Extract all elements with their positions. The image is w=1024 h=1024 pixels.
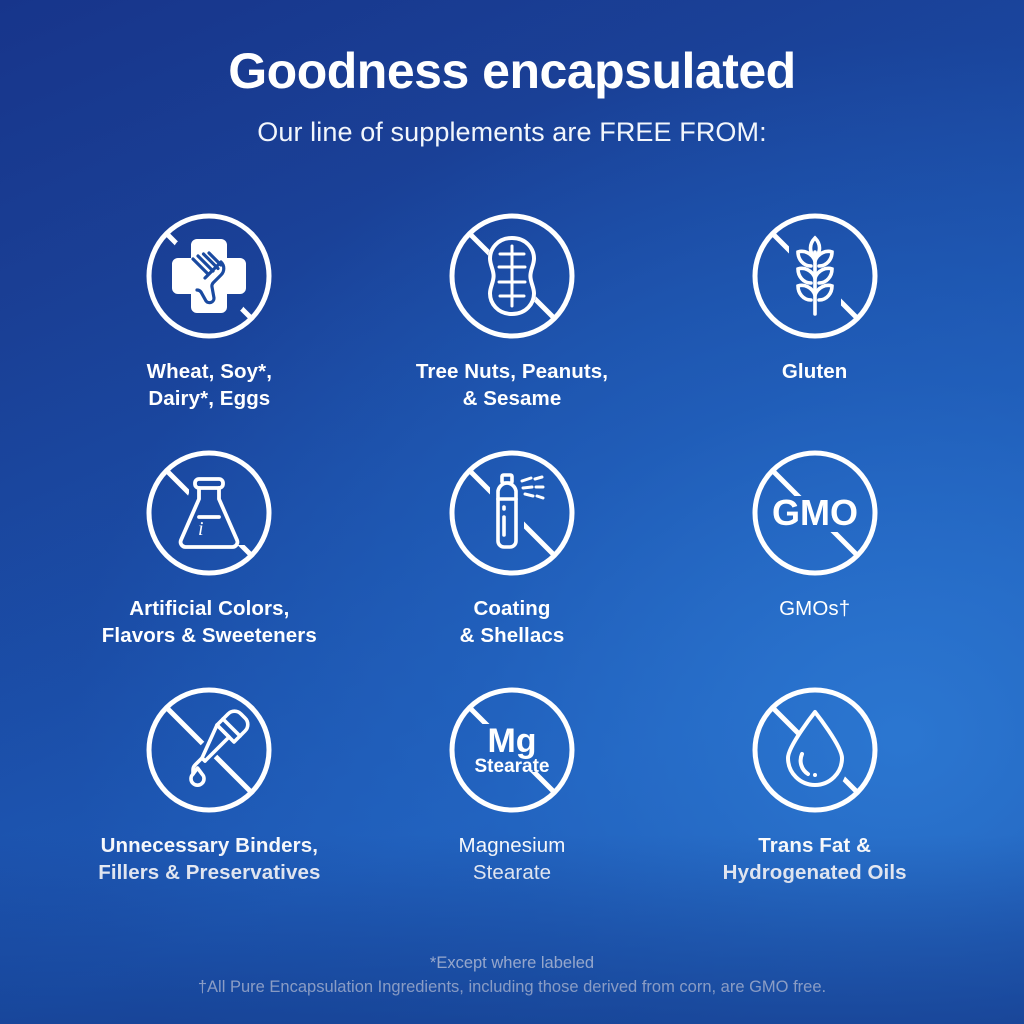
item-label: Gluten — [782, 358, 848, 385]
item-label: Tree Nuts, Peanuts, & Sesame — [416, 358, 608, 412]
item-label: GMOs† — [779, 595, 850, 622]
footnotes: *Except where labeled †All Pure Encapsul… — [0, 951, 1024, 1001]
no-magnesium-stearate-text-icon: Mg Stearate — [442, 680, 582, 820]
no-allergen-cross-fork-icon — [139, 206, 279, 346]
no-wheat-stalk-icon — [745, 206, 885, 346]
footnote-gmo-free: †All Pure Encapsulation Ingredients, inc… — [0, 975, 1024, 1000]
item-label: Coating & Shellacs — [460, 595, 565, 649]
no-gmo-text-icon: GMO — [745, 443, 885, 583]
free-from-item-gmo: GMO GMOs† — [663, 443, 966, 680]
free-from-item-binders: Unnecessary Binders, Fillers & Preservat… — [58, 680, 361, 917]
item-label: Trans Fat & Hydrogenated Oils — [723, 832, 907, 886]
item-label: Wheat, Soy*, Dairy*, Eggs — [147, 358, 272, 412]
free-from-item-magnesium-stearate: Mg Stearate Magnesium Stearate — [361, 680, 664, 917]
free-from-item-gluten: Gluten — [663, 206, 966, 443]
stearate-icon-text: Stearate — [474, 756, 549, 777]
no-spray-can-icon — [442, 443, 582, 583]
free-from-item-artificial-colors: i Artificial Colors, Flavors & Sweetener… — [58, 443, 361, 680]
free-from-item-trans-fat: Trans Fat & Hydrogenated Oils — [663, 680, 966, 917]
page-title: Goodness encapsulated — [0, 44, 1024, 99]
no-flask-icon: i — [139, 443, 279, 583]
no-dropper-icon — [139, 680, 279, 820]
no-peanut-icon — [442, 206, 582, 346]
gmo-icon-text: GMO — [772, 492, 858, 533]
item-label: Unnecessary Binders, Fillers & Preservat… — [98, 832, 320, 886]
free-from-poster: Goodness encapsulated Our line of supple… — [0, 0, 1024, 1024]
footnote-except-where-labeled: *Except where labeled — [0, 951, 1024, 976]
mg-icon-text: Mg — [487, 722, 536, 760]
no-oil-droplet-icon — [745, 680, 885, 820]
page-subtitle: Our line of supplements are FREE FROM: — [0, 117, 1024, 148]
poster-header: Goodness encapsulated Our line of supple… — [0, 44, 1024, 148]
free-from-item-nuts: Tree Nuts, Peanuts, & Sesame — [361, 206, 664, 443]
svg-text:i: i — [198, 518, 204, 540]
item-label: Artificial Colors, Flavors & Sweeteners — [102, 595, 317, 649]
free-from-grid: Wheat, Soy*, Dairy*, Eggs — [58, 206, 966, 917]
free-from-item-coating: Coating & Shellacs — [361, 443, 664, 680]
free-from-item-allergens: Wheat, Soy*, Dairy*, Eggs — [58, 206, 361, 443]
item-label: Magnesium Stearate — [459, 832, 566, 886]
